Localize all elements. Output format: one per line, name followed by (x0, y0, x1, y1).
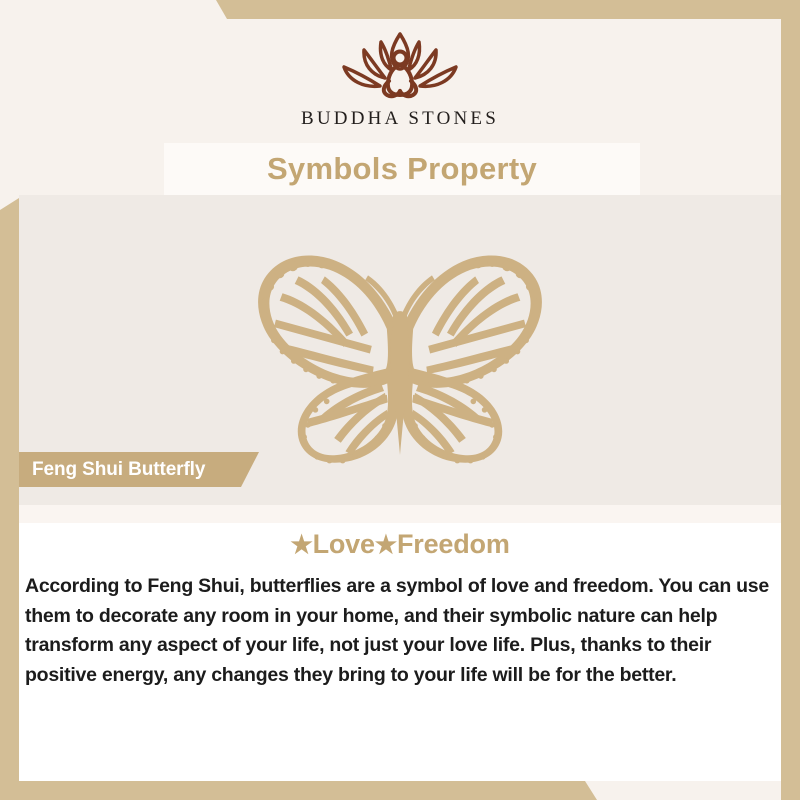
decorative-top-border (0, 0, 800, 19)
panel-transition-strip (19, 505, 781, 523)
title-band: Symbols Property (19, 143, 781, 195)
star-icon-middle: ★ (375, 531, 397, 559)
butterfly-icon (230, 235, 570, 470)
decorative-right-border (781, 0, 800, 800)
brand-header: BUDDHA STONES (19, 19, 781, 143)
page-title: Symbols Property (267, 151, 537, 187)
tagline: ★Love★Freedom (19, 529, 781, 560)
feature-banner: Feng Shui Butterfly (19, 452, 259, 487)
description-section: ★Love★Freedom According to Feng Shui, bu… (19, 523, 781, 781)
title-band-inner: Symbols Property (164, 143, 640, 195)
star-icon-left: ★ (290, 531, 312, 559)
feature-banner-label: Feng Shui Butterfly (19, 459, 205, 481)
info-card: BUDDHA STONES Symbols Property (19, 19, 781, 781)
lotus-meditation-icon (325, 27, 475, 107)
description-paragraph: According to Feng Shui, butterflies are … (25, 572, 773, 691)
brand-wordmark: BUDDHA STONES (301, 108, 499, 130)
decorative-left-border (0, 198, 19, 800)
tagline-word-love: Love (313, 529, 375, 559)
decorative-bottom-border (0, 781, 800, 800)
tagline-word-freedom: Freedom (397, 529, 510, 559)
